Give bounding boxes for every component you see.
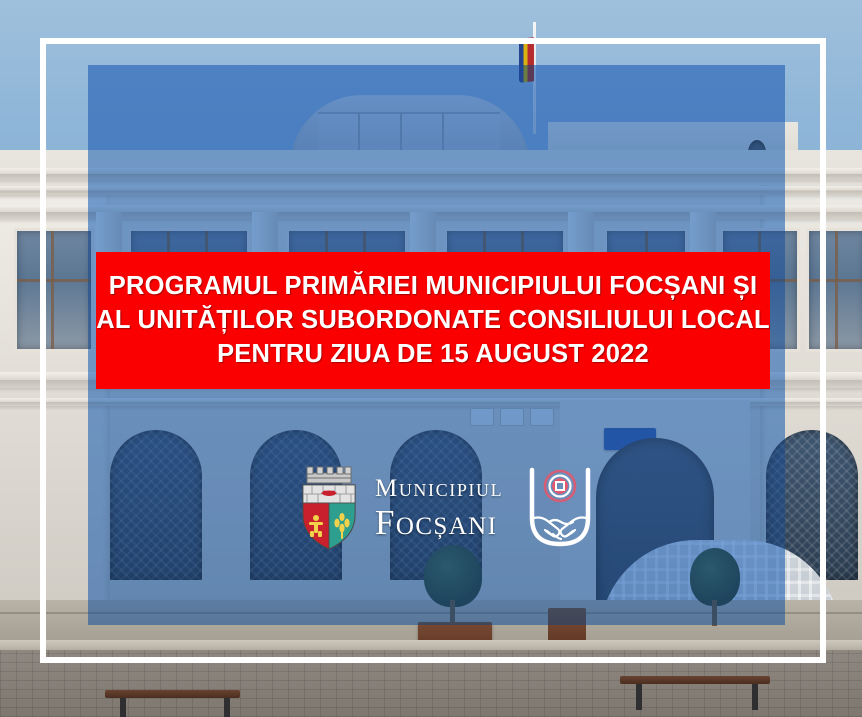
logo-line-municipiul: Municipiul xyxy=(375,476,503,501)
focsani-coat-of-arms-icon xyxy=(297,465,361,551)
park-bench xyxy=(105,690,240,698)
banner-line-3: PENTRU ZIUA DE 15 AUGUST 2022 xyxy=(217,339,649,370)
municipality-logo: Municipiul Focșani xyxy=(297,462,589,554)
park-bench xyxy=(620,676,770,684)
banner-line-2: AL UNITĂȚILOR SUBORDONATE CONSILIULUI LO… xyxy=(96,305,769,336)
u-handshake-emblem-icon xyxy=(523,464,597,552)
announcement-banner: PROGRAMUL PRIMĂRIEI MUNICIPIULUI FOCȘANI… xyxy=(96,252,770,389)
kerb xyxy=(0,640,862,650)
logo-line-focsani: Focșani xyxy=(375,505,503,540)
banner-line-1: PROGRAMUL PRIMĂRIEI MUNICIPIULUI FOCȘANI… xyxy=(109,271,757,302)
poster-canvas: PROGRAMUL PRIMĂRIEI MUNICIPIULUI FOCȘANI… xyxy=(0,0,862,717)
logo-wordmark: Municipiul Focșani xyxy=(375,476,503,540)
facade-window xyxy=(806,228,862,352)
facade-window xyxy=(14,228,94,352)
